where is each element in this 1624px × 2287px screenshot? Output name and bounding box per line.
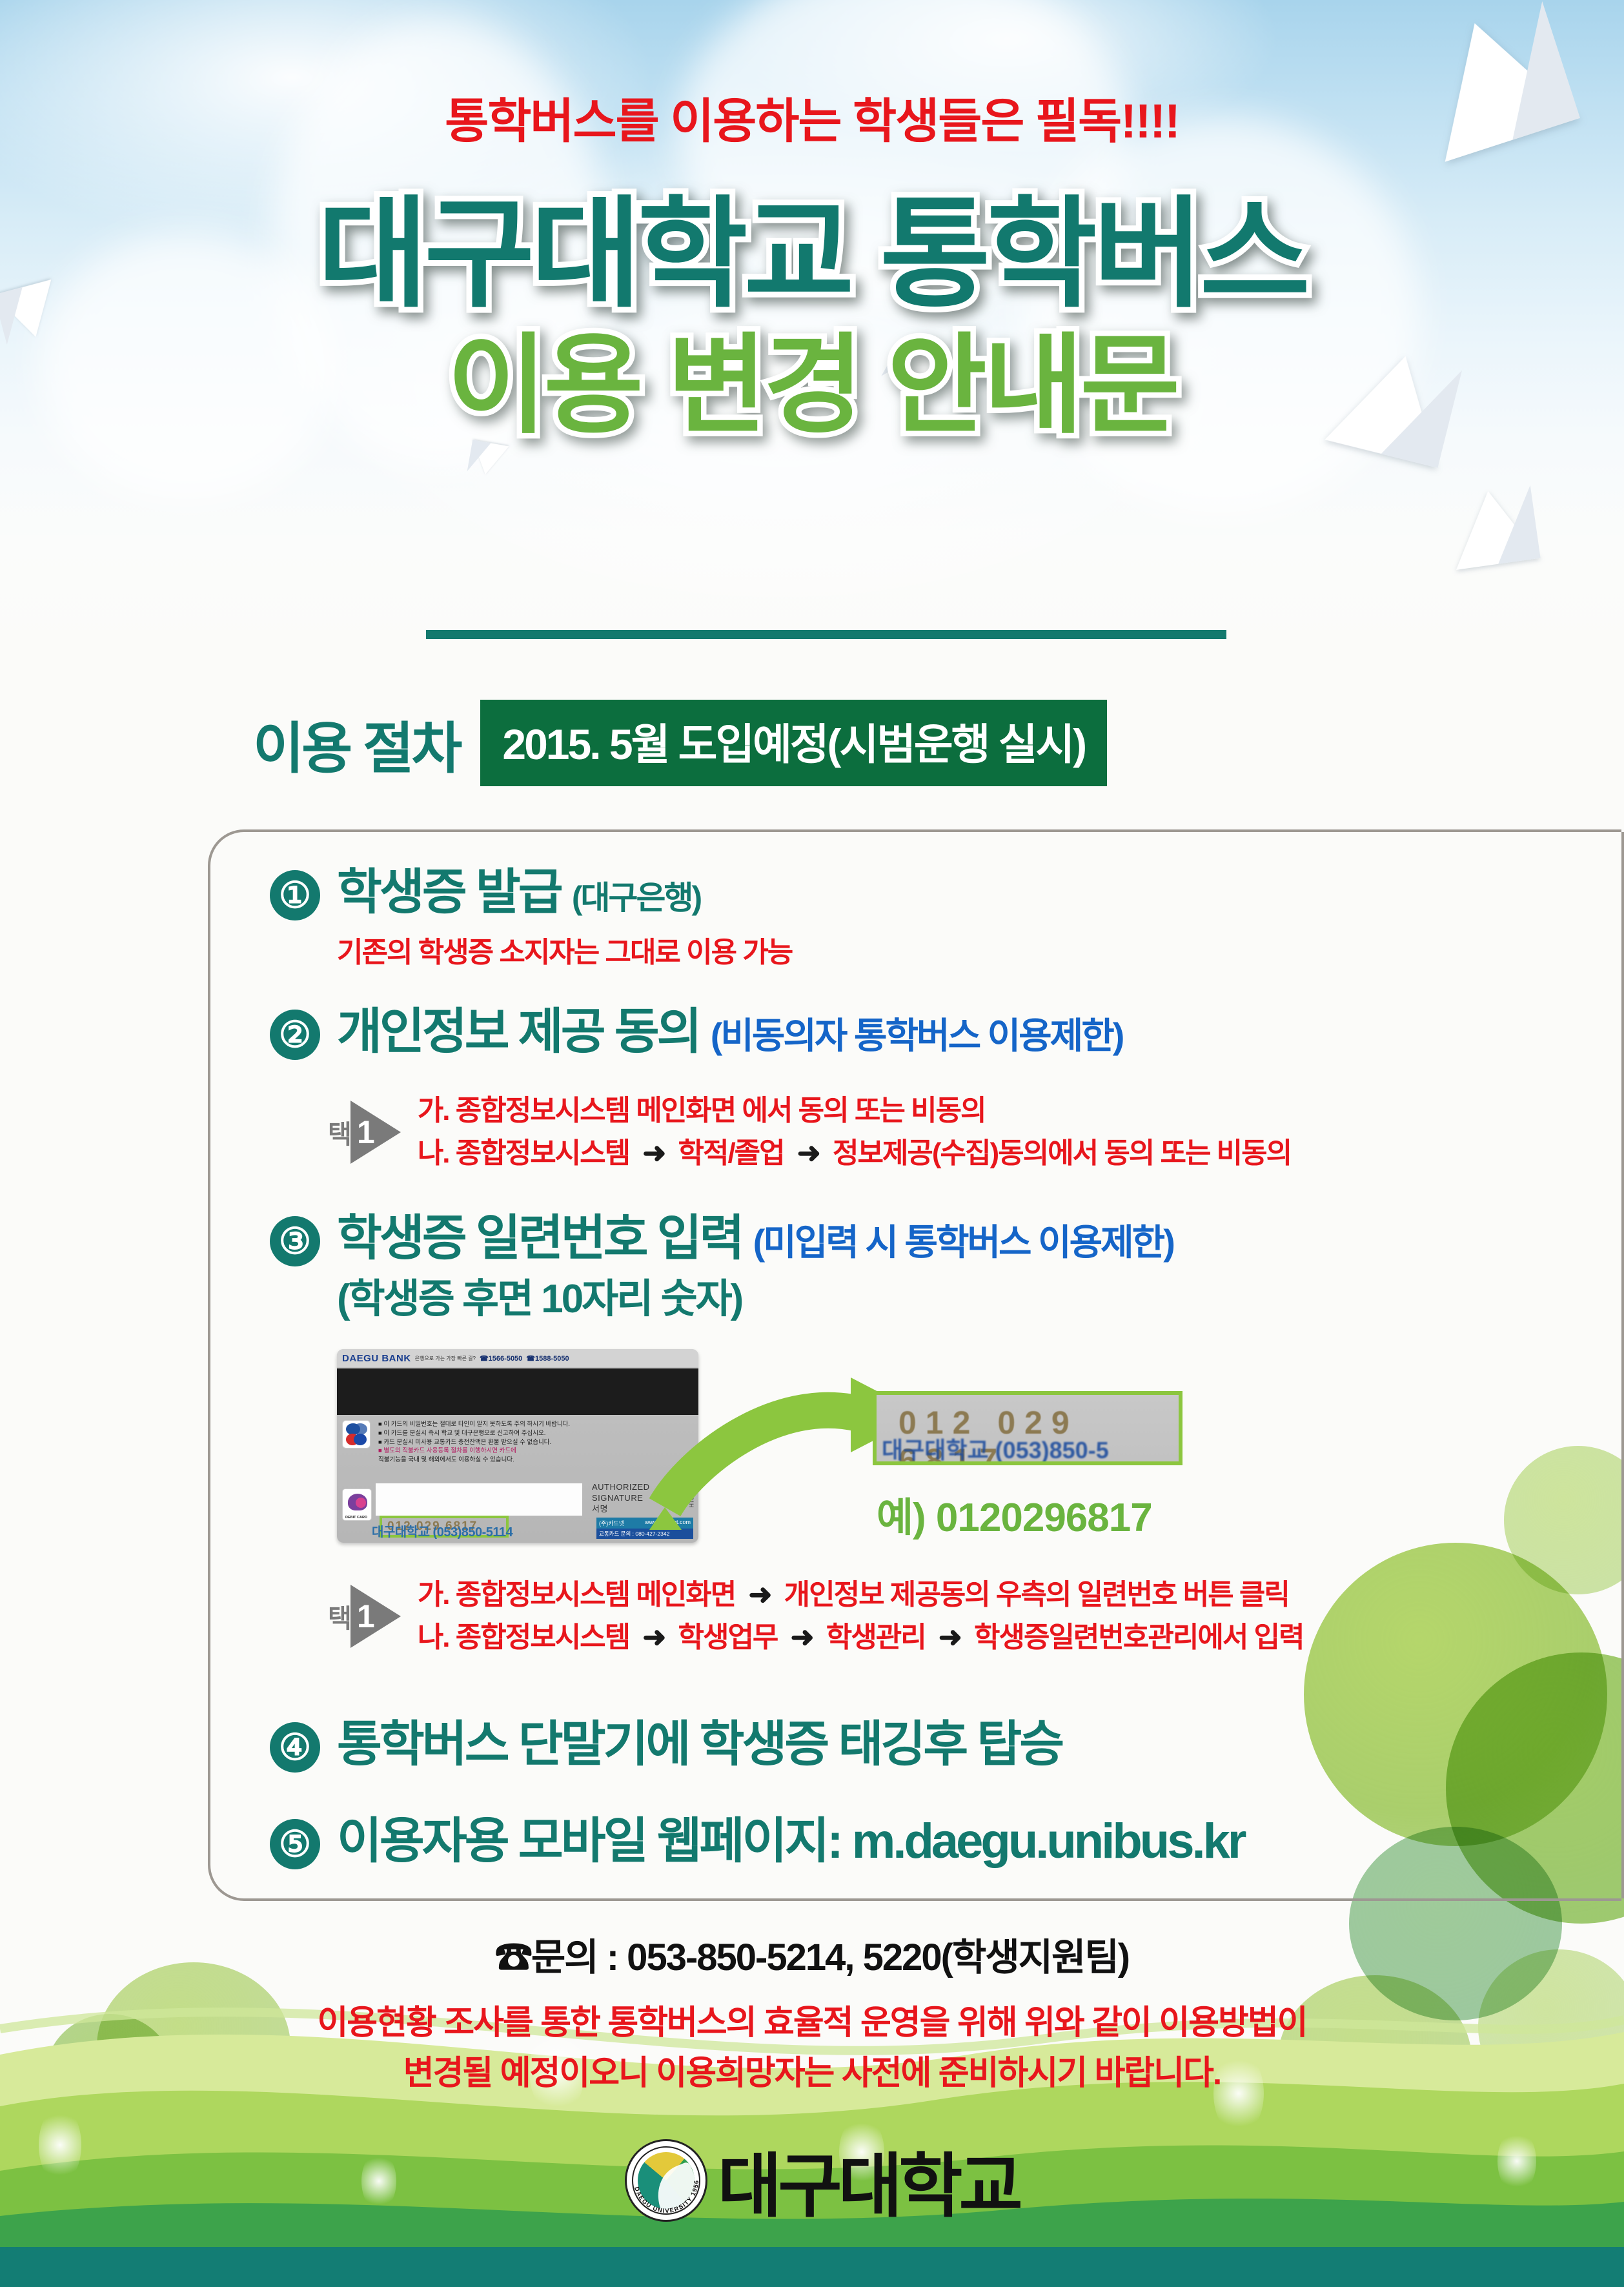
option-part: 종합정보시스템 메인화면 에서 동의 또는 비동의 [456,1095,986,1126]
step-5-title: 이용자용 모바일 웹페이지: m.daegu.unibus.kr [337,1814,1244,1869]
option-prefix: 나. [418,1137,449,1169]
contact-line: ☎문의 : 053-850-5214, 5220(학생지원팀) [0,1927,1624,1981]
step-number-badge: ② [270,1010,320,1060]
option-prefix: 나. [418,1621,449,1653]
section-label: 이용 절차 [253,703,460,784]
step-4-content: 통학버스 단말기에 학생증 태깅후 탑승 [337,1717,1062,1772]
step-5-content: 이용자용 모바일 웹페이지: m.daegu.unibus.kr [337,1814,1244,1869]
magnified-serial-box: 012 029 6817 대구대학교 (053)850-5 [873,1391,1182,1465]
option-row: 나. 종합정보시스템 ➜ 학생업무 ➜ 학생관리 ➜ 학생증일련번호관리에서 입… [418,1616,1304,1659]
university-logo: DAEGU UNIVERSITY 1956 대구대학교 [625,2130,1019,2231]
svg-text:DAEGU UNIVERSITY 1956: DAEGU UNIVERSITY 1956 [633,2179,700,2215]
step-2-note: (비동의자 통학버스 이용제한) [711,1015,1123,1056]
step-3-content: 학생증 일련번호 입력 (미입력 시 통학버스 이용제한) (학생증 후면 10… [337,1211,1173,1324]
step-number: ① [279,877,311,913]
step-3-note-2: (학생증 후면 10자리 숫자) [337,1266,1173,1324]
poster-title: 대구대학교 통학버스 이용 변경 안내문 [0,194,1624,441]
cirrus-maestro-icon [342,1420,370,1448]
arrow-icon: ➜ [784,1621,820,1653]
step-number-badge: ④ [270,1722,320,1773]
title-line-2: 이용 변경 안내문 [0,330,1624,441]
card-magnetic-stripe [337,1368,698,1415]
option-row: 나. 종합정보시스템 ➜ 학적/졸업 ➜ 정보제공(수집)동의에서 동의 또는 … [418,1132,1291,1175]
wave-glow [1497,2129,1536,2193]
poster-root: 통학버스를 이용하는 학생들은 필독!!!! 대구대학교 통학버스 이용 변경 … [0,0,1624,2287]
notice-text: 이용현황 조사를 통한 통학버스의 효율적 운영을 위해 위와 같이 이용방법이… [0,1998,1624,2099]
step-5: ⑤ 이용자용 모바일 웹페이지: m.daegu.unibus.kr [270,1814,1244,1869]
kicker-text: 통학버스를 이용하는 학생들은 필독!!!! [0,83,1624,152]
pick-label: 택 [328,1113,350,1151]
step-2-content: 개인정보 제공 동의 (비동의자 통학버스 이용제한) [337,1004,1122,1059]
step-1-subnote: 기존의 학생증 소지자는 그대로 이용 가능 [337,929,792,970]
option-row: 가. 종합정보시스템 메인화면 에서 동의 또는 비동의 [418,1090,1291,1132]
card-signature-box [376,1483,582,1516]
wave-glow [361,2151,396,2211]
student-card-image: DAEGU BANK 은행으로 가는 가장 빠른 길? ☎1566-5050 ☎… [337,1349,698,1543]
pick-arrow-icon: 1 [350,1585,401,1648]
step-4: ④ 통학버스 단말기에 학생증 태깅후 탑승 [270,1717,1062,1773]
title-divider [426,630,1226,639]
step-number: ② [279,1017,311,1053]
step-2-title: 개인정보 제공 동의 (비동의자 통학버스 이용제한) [337,1004,1122,1059]
magnified-under-text: 대구대학교 (053)850-5 [882,1432,1109,1465]
card-university-line: 대구대학교 (053)850-5114 [372,1521,513,1540]
box-right-edge [1621,832,1624,1898]
step-3-title: 학생증 일련번호 입력 (미입력 시 통학버스 이용제한) [337,1211,1173,1266]
card-tel-1: ☎1566-5050 [480,1354,522,1363]
sig-line-ko: 서명 [592,1504,650,1515]
step-3: ③ 학생증 일련번호 입력 (미입력 시 통학버스 이용제한) (학생증 후면 … [270,1211,1173,1324]
option-part: 학생관리 [826,1621,926,1653]
option-prefix: 가. [418,1095,449,1126]
university-name: 대구대학교 [718,2130,1019,2231]
option-part: 종합정보시스템 [456,1621,629,1653]
bottom-teal-bar [0,2247,1624,2287]
option-row: 가. 종합정보시스템 메인화면 ➜ 개인정보 제공동의 우측의 일련번호 버튼 … [418,1574,1304,1616]
cardnet-name: (주)카드넷 [599,1519,624,1527]
option-part: 학적/졸업 [678,1137,784,1169]
card-tel-2: ☎1588-5050 [526,1354,569,1363]
option-part: 개인정보 제공동의 우측의 일련번호 버튼 클릭 [784,1579,1289,1611]
card-back-body: DEBIT CARD ■ 이 카드의 비밀번호는 절대로 타인이 알지 못하도록… [337,1415,698,1543]
option-part: 종합정보시스템 [456,1137,629,1169]
title-line-1: 대구대학교 통학버스 [0,194,1624,316]
option-part: 학생증일련번호관리에서 입력 [974,1621,1303,1653]
arrow-icon: ➜ [791,1137,826,1169]
step-1-content: 학생증 발급 (대구은행) 기존의 학생증 소지자는 그대로 이용 가능 [337,865,792,970]
step-2: ② 개인정보 제공 동의 (비동의자 통학버스 이용제한) [270,1004,1122,1060]
step-number: ③ [279,1223,311,1259]
step-number: ④ [279,1729,311,1765]
step-1-note: (대구은행) [572,880,700,916]
arrow-icon: ➜ [742,1579,778,1611]
arrow-icon: ➜ [932,1621,968,1653]
option-part: 학생업무 [678,1621,777,1653]
step-number-badge: ① [270,870,320,920]
wave-glow [39,2106,81,2184]
step-3-choose-one: 택 1 가. 종합정보시스템 메인화면 ➜ 개인정보 제공동의 우측의 일련번호… [328,1574,1303,1659]
debit-card-label: DEBIT CARD [345,1516,367,1520]
step-number-badge: ⑤ [270,1819,320,1869]
option-prefix: 가. [418,1579,449,1611]
sig-line-1: AUTHORIZED [592,1482,650,1493]
card-signature-label: AUTHORIZED SIGNATURE 서명 [592,1482,650,1515]
option-part: 정보제공(수집)동의에서 동의 또는 비동의 [833,1137,1291,1169]
step-1-title: 학생증 발급 (대구은행) [337,865,792,920]
card-bank-name: DAEGU BANK [342,1353,411,1364]
step-4-title: 통학버스 단말기에 학생증 태깅후 탑승 [337,1717,1062,1772]
step-3-options: 가. 종합정보시스템 메인화면 ➜ 개인정보 제공동의 우측의 일련번호 버튼 … [418,1574,1304,1659]
step-2-title-text: 개인정보 제공 동의 [337,1004,700,1059]
notice-line-2: 변경될 예정이오니 이용희망자는 사전에 준비하시기 바랍니다. [0,2048,1624,2099]
arrow-icon: ➜ [636,1621,671,1653]
section-banner: 2015. 5월 도입예정(시범운행 실시) [480,700,1107,786]
step-3-title-text: 학생증 일련번호 입력 [337,1211,742,1266]
option-part: 종합정보시스템 메인화면 [456,1579,736,1611]
notice-line-1: 이용현황 조사를 통한 통학버스의 효율적 운영을 위해 위와 같이 이용방법이 [0,1998,1624,2048]
pick-label: 택 [328,1598,350,1635]
step-1: ① 학생증 발급 (대구은행) 기존의 학생증 소지자는 그대로 이용 가능 [270,865,792,970]
serial-example-text: 예) 0120296817 [877,1485,1152,1543]
university-seal-icon: DAEGU UNIVERSITY 1956 [625,2139,707,2222]
step-2-choose-one: 택 1 가. 종합정보시스템 메인화면 에서 동의 또는 비동의 나. 종합정보… [328,1090,1291,1175]
card-header-strip: DAEGU BANK 은행으로 가는 가장 빠른 길? ☎1566-5050 ☎… [337,1349,698,1367]
step-number-badge: ③ [270,1216,320,1266]
section-header: 이용 절차 2015. 5월 도입예정(시범운행 실시) [253,700,1107,786]
debit-card-icon: DEBIT CARD [342,1489,372,1521]
pick-count: 1 [357,1113,375,1151]
seal-text: DAEGU UNIVERSITY 1956 [633,2179,700,2215]
arrow-icon: ➜ [636,1137,671,1169]
card-network-logos: DEBIT CARD [342,1420,374,1543]
step-2-options: 가. 종합정보시스템 메인화면 에서 동의 또는 비동의 나. 종합정보시스템 … [418,1090,1291,1175]
step-3-note: (미입력 시 통학버스 이용제한) [753,1222,1173,1263]
card-slogan: 은행으로 가는 가장 빠른 길? [415,1355,476,1362]
sig-line-2: SIGNATURE [592,1493,650,1504]
step-number: ⑤ [279,1826,311,1862]
pick-count: 1 [357,1598,375,1635]
step-1-title-text: 학생증 발급 [337,865,561,920]
pick-arrow-icon: 1 [350,1101,401,1164]
